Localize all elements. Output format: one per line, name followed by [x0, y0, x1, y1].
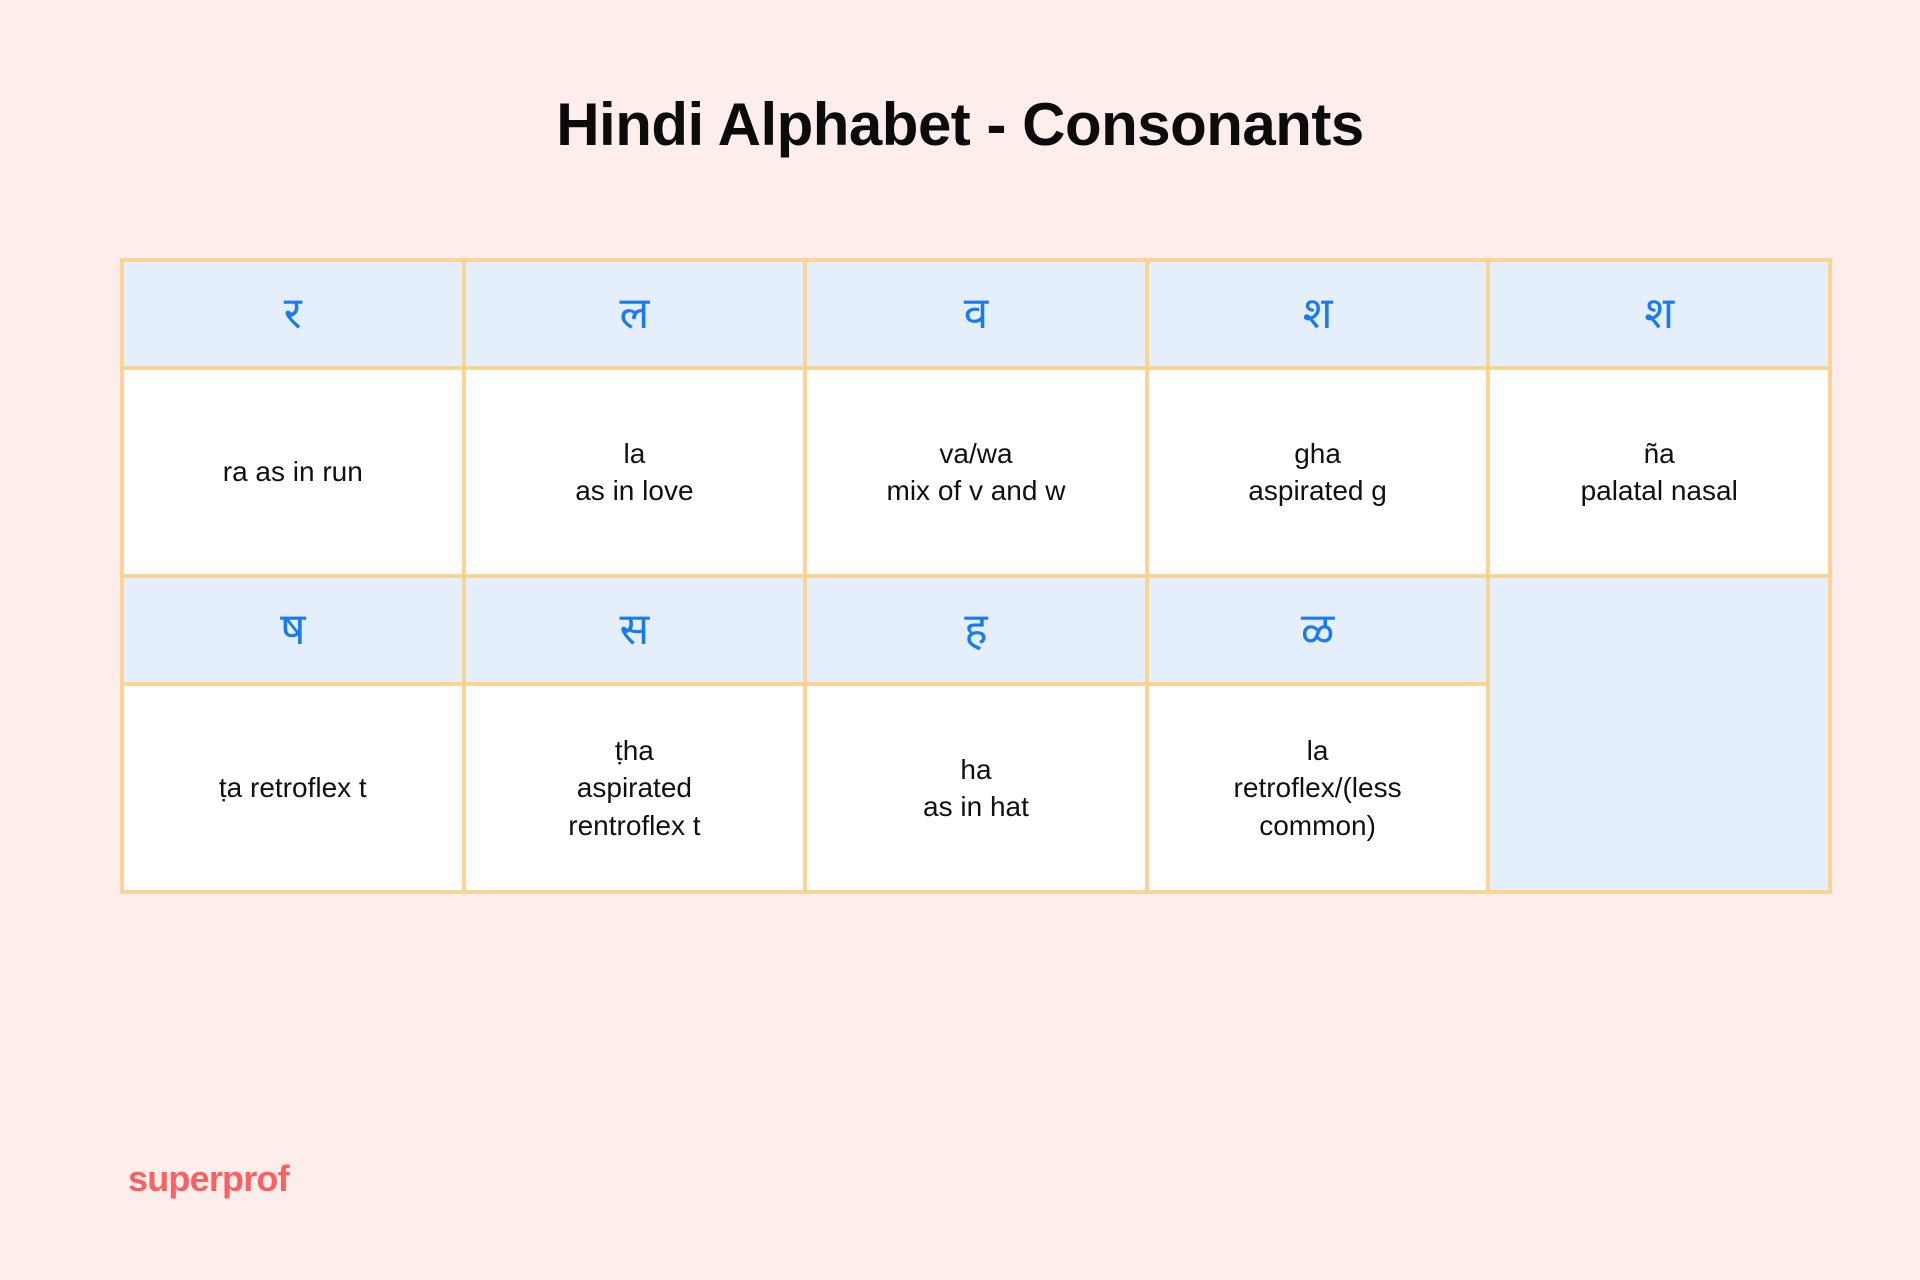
letter-cell-r2c2[interactable]: स: [464, 576, 806, 684]
meaning-cell-r2c2: ṭha aspirated rentroflex t: [464, 684, 806, 892]
letter-cell-r2c3[interactable]: ह: [805, 576, 1147, 684]
poster-page: Hindi Alphabet - Consonants र ल व श श ra…: [0, 0, 1920, 1280]
page-title: Hindi Alphabet - Consonants: [0, 90, 1920, 159]
meaning-cell-r1c4: gha aspirated g: [1147, 368, 1489, 576]
meaning-cell-r1c3: va/wa mix of v and w: [805, 368, 1147, 576]
letter-cell-r1c1[interactable]: र: [122, 260, 464, 368]
meaning-cell-r2c3: ha as in hat: [805, 684, 1147, 892]
hindi-consonants-table: र ल व श श ra as in run la as in love va/…: [120, 258, 1832, 894]
letter-cell-r1c2[interactable]: ल: [464, 260, 806, 368]
table-row-meanings-1: ra as in run la as in love va/wa mix of …: [122, 368, 1830, 576]
empty-merged-cell: [1488, 576, 1830, 892]
superprof-logo[interactable]: superprof: [128, 1158, 289, 1200]
letter-cell-r2c1[interactable]: ष: [122, 576, 464, 684]
table-row-letters-2: ष स ह ळ: [122, 576, 1830, 684]
meaning-cell-r1c2: la as in love: [464, 368, 806, 576]
meaning-cell-r2c4: la retroflex/(less common): [1147, 684, 1489, 892]
table-row-letters-1: र ल व श श: [122, 260, 1830, 368]
meaning-cell-r1c1: ra as in run: [122, 368, 464, 576]
letter-cell-r1c3[interactable]: व: [805, 260, 1147, 368]
letter-cell-r1c5[interactable]: श: [1488, 260, 1830, 368]
letter-cell-r1c4[interactable]: श: [1147, 260, 1489, 368]
meaning-cell-r1c5: ña palatal nasal: [1488, 368, 1830, 576]
letter-cell-r2c4[interactable]: ळ: [1147, 576, 1489, 684]
meaning-cell-r2c1: ṭa retroflex t: [122, 684, 464, 892]
